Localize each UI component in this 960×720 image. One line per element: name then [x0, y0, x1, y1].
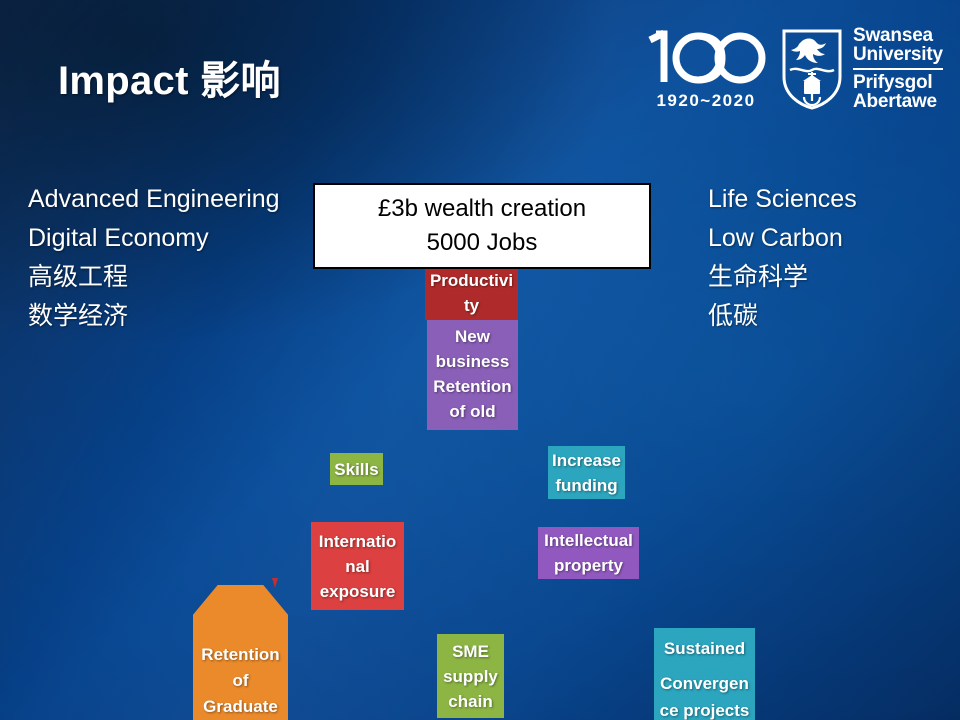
box-skills-line-1: Skills	[334, 457, 378, 482]
box-increase-funding-line-1: Increase	[552, 448, 621, 473]
box-international-exposure-line-1: Internatio	[319, 529, 396, 554]
box-sustained-line-2: Convergen	[660, 671, 749, 696]
wordmark-line-swansea: Swansea	[853, 26, 943, 45]
box-retention-line-3: Graduate	[203, 694, 278, 720]
box-intellectual-property: Intellectual property	[538, 527, 639, 579]
box-new-business-line-3: Retention	[433, 374, 511, 399]
right-theme-line-1: Life Sciences	[708, 180, 857, 219]
wordmark-line-abertawe: Abertawe	[853, 92, 943, 111]
wordmark-divider	[853, 68, 943, 70]
right-theme-list: Life Sciences Low Carbon 生命科学 低碳	[708, 180, 857, 336]
box-new-business-line-4: of old	[449, 399, 495, 424]
left-theme-list: Advanced Engineering Digital Economy 高级工…	[28, 180, 280, 336]
box-increase-funding-line-2: funding	[555, 473, 617, 498]
wealth-creation-callout: £3b wealth creation 5000 Jobs	[313, 183, 651, 269]
box-new-business-line-1: New	[455, 324, 490, 349]
box-international-exposure-line-2: nal	[345, 554, 370, 579]
presentation-slide: Impact 影响 1920~2020	[0, 0, 960, 720]
right-theme-line-4: 低碳	[708, 297, 857, 336]
box-retention-line-2: of	[232, 668, 248, 694]
box-international-exposure-line-3: exposure	[320, 579, 396, 604]
box-sme-supply-chain-line-3: chain	[448, 689, 492, 714]
box-sustained-line-3: ce projects	[660, 698, 750, 720]
wordmark-line-prifysgol: Prifysgol	[853, 73, 943, 92]
swansea-university-logo: 1920~2020 Swansea University Prifysgol	[642, 26, 943, 112]
left-theme-line-1: Advanced Engineering	[28, 180, 280, 219]
box-sustained-line-1: Sustained	[664, 636, 745, 661]
red-marker-icon	[272, 578, 278, 588]
centenary-mark: 1920~2020	[642, 27, 770, 111]
right-theme-line-3: 生命科学	[708, 258, 857, 297]
wordmark-line-university: University	[853, 45, 943, 64]
box-international-exposure: Internatio nal exposure	[311, 522, 404, 610]
box-new-business-retention: New business Retention of old	[427, 318, 518, 430]
box-retention-of-graduates: Retention of Graduate	[193, 585, 288, 720]
left-theme-line-2: Digital Economy	[28, 219, 280, 258]
box-productivity-line-1: Productivi	[430, 268, 513, 293]
box-sme-supply-chain-line-2: supply	[443, 664, 498, 689]
callout-line-1: £3b wealth creation	[378, 192, 586, 226]
swansea-university-crest-icon	[780, 27, 844, 111]
box-intellectual-property-line-1: Intellectual	[544, 528, 633, 553]
box-sme-supply-chain: SME supply chain	[437, 634, 504, 718]
box-intellectual-property-line-2: property	[554, 553, 623, 578]
box-retention-line-1: Retention	[201, 642, 279, 668]
callout-line-2: 5000 Jobs	[427, 226, 538, 260]
left-theme-line-3: 高级工程	[28, 258, 280, 297]
page-title: Impact 影响	[58, 48, 281, 106]
box-skills: Skills	[330, 453, 383, 485]
box-sustained-convergence-projects: Sustained Convergen ce projects	[654, 628, 755, 720]
university-wordmark: Swansea University Prifysgol Abertawe	[853, 26, 943, 112]
centenary-years: 1920~2020	[656, 91, 755, 111]
centenary-100-icon	[642, 27, 770, 89]
box-productivity: Productivi ty	[425, 266, 518, 320]
box-increase-funding: Increase funding	[548, 446, 625, 499]
box-new-business-line-2: business	[436, 349, 510, 374]
left-theme-line-4: 数学经济	[28, 297, 280, 336]
crest-and-wordmark: Swansea University Prifysgol Abertawe	[780, 26, 943, 112]
right-theme-line-2: Low Carbon	[708, 219, 857, 258]
box-sme-supply-chain-line-1: SME	[452, 639, 489, 664]
box-productivity-line-2: ty	[464, 293, 479, 318]
